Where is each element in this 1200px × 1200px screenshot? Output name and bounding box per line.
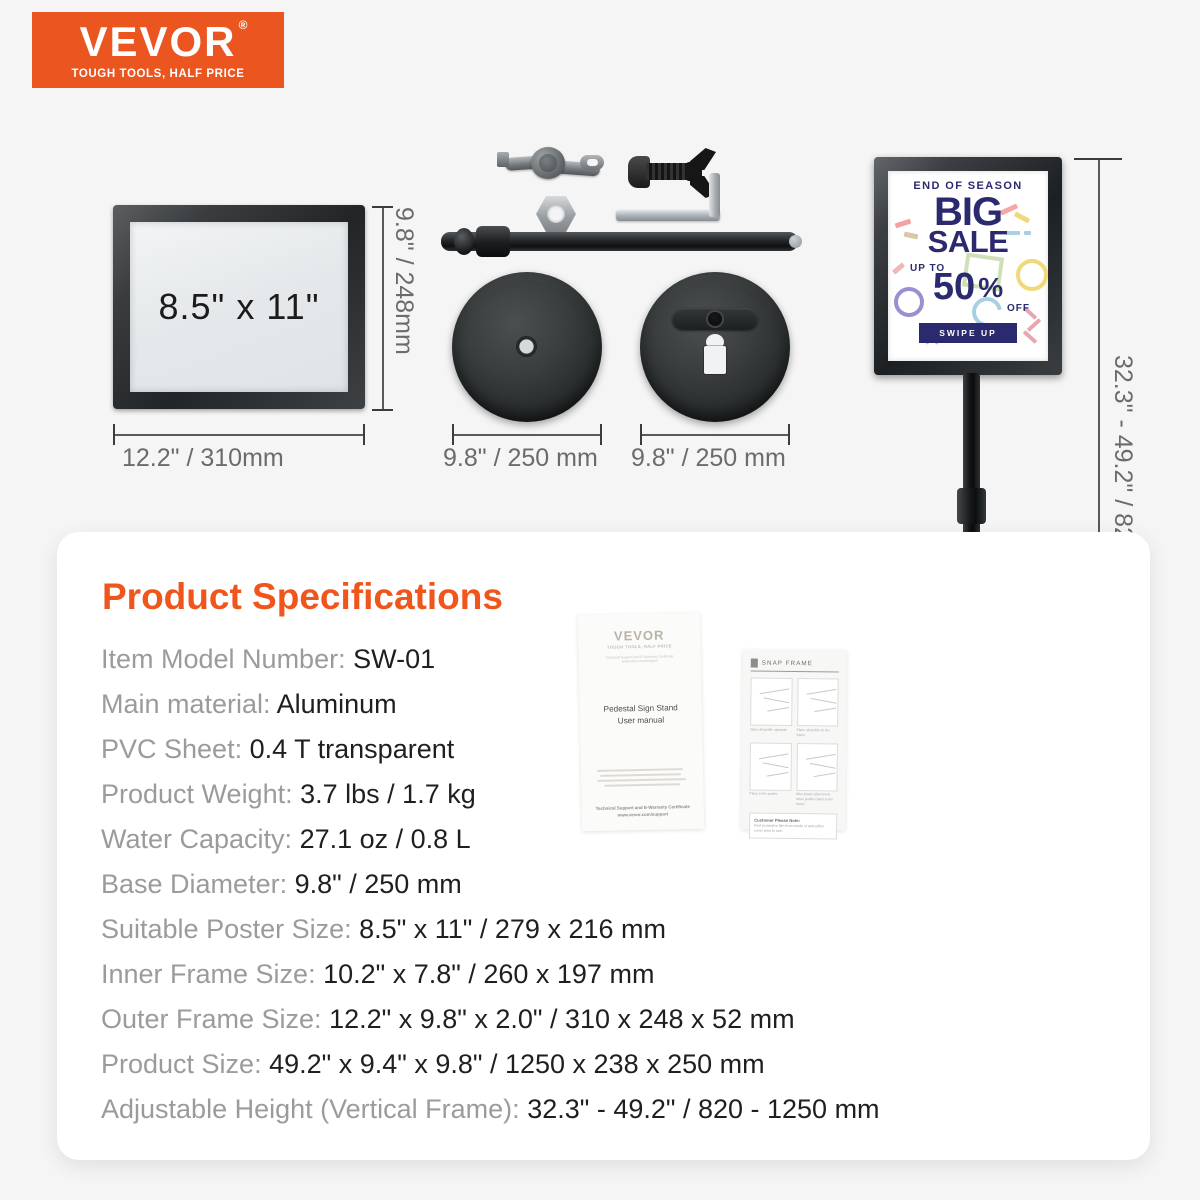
base-mounting-bracket xyxy=(672,308,758,330)
spec-value: 10.2" x 7.8" / 260 x 197 mm xyxy=(323,959,654,989)
spec-label: Base Diameter: xyxy=(101,869,287,899)
snap-card-steps: Open all profile upwardsPlace all profil… xyxy=(749,678,838,808)
spec-row: Outer Frame Size: 12.2" x 9.8" x 2.0" / … xyxy=(101,997,880,1042)
snap-step-diagram xyxy=(750,678,792,726)
spec-value: 12.2" x 9.8" x 2.0" / 310 x 248 x 52 mm xyxy=(329,1004,795,1034)
disc-top-cap-right xyxy=(600,424,602,445)
stand-height-cap-top xyxy=(1074,158,1122,160)
disc-bottom-dimension-line xyxy=(640,434,790,436)
spec-label: Inner Frame Size: xyxy=(101,959,316,989)
spec-label: Item Model Number: xyxy=(101,644,346,674)
snap-step: After poster placement, close profiles b… xyxy=(796,743,838,808)
frame-width-cap-right xyxy=(363,424,365,445)
wrench-eyelet xyxy=(580,155,604,170)
spec-value: 9.8" / 250 mm xyxy=(295,869,462,899)
frame-width-label: 12.2" / 310mm xyxy=(122,444,284,473)
poster-discount-value: 50 xyxy=(933,270,975,304)
disc-top-label: 9.8" / 250 mm xyxy=(443,444,598,473)
snap-step-diagram-line xyxy=(763,762,789,768)
snap-step: Place in the poster xyxy=(749,742,791,807)
snap-step-diagram-line xyxy=(810,698,836,704)
snap-step-diagram xyxy=(749,742,791,790)
snap-step-caption: Open all profile upwards xyxy=(750,727,792,732)
snap-step-diagram-line xyxy=(806,689,836,695)
snap-step-caption: Place in the poster xyxy=(749,792,791,797)
pole-exploded-knob xyxy=(454,228,474,255)
snap-step: Open all profile upwards xyxy=(750,678,792,738)
allen-key-short-arm xyxy=(709,173,720,217)
snap-step-diagram xyxy=(796,743,838,791)
spec-row: Inner Frame Size: 10.2" x 7.8" / 260 x 1… xyxy=(101,952,880,997)
disc-top-dimension-line xyxy=(452,434,602,436)
spec-value: 8.5" x 11" / 279 x 216 mm xyxy=(359,914,666,944)
disc-bottom-cap-left xyxy=(640,424,642,445)
poster-artwork: END OF SEASON BIG SALE UP TO 50 % OFF SW… xyxy=(888,171,1048,361)
logo-wordmark: VEVOR® xyxy=(79,21,236,63)
snap-step-diagram-line xyxy=(805,753,835,759)
spec-row: Base Diameter: 9.8" / 250 mm xyxy=(101,862,880,907)
product-spec-page: VEVOR® TOUGH TOOLS, HALF PRICE 8.5" x 11… xyxy=(0,0,1200,1200)
spec-value: 3.7 lbs / 1.7 kg xyxy=(300,779,476,809)
manual-title-line1: Pedestal Sign Stand xyxy=(590,702,692,716)
snap-step-diagram-line xyxy=(764,697,790,703)
snap-frame-instruction-card: SNAP FRAME Open all profile upwardsPlace… xyxy=(741,649,847,830)
assembled-sign-frame: END OF SEASON BIG SALE UP TO 50 % OFF SW… xyxy=(874,157,1062,375)
wrench-tip xyxy=(497,152,509,167)
spec-value: 32.3" - 49.2" / 820 - 1250 mm xyxy=(527,1094,879,1124)
frame-height-cap-bottom xyxy=(372,409,393,411)
spec-label: Product Weight: xyxy=(101,779,293,809)
snap-step-diagram-line xyxy=(809,762,835,768)
stand-pole-adjust-collar xyxy=(957,488,986,524)
logo-tagline: TOUGH TOOLS, HALF PRICE xyxy=(71,68,244,80)
spec-label: Outer Frame Size: xyxy=(101,1004,322,1034)
poster-off-label: OFF xyxy=(1007,303,1030,314)
pole-exploded-end-cap xyxy=(789,235,802,248)
logo-word-text: VEVOR xyxy=(79,18,236,65)
snap-frame-diagram: 8.5" x 11" xyxy=(113,205,365,409)
manual-text-line xyxy=(604,783,680,787)
spec-row: Suitable Poster Size: 8.5" x 11" / 279 x… xyxy=(101,907,880,952)
manual-text-line xyxy=(597,778,686,782)
spec-value: Aluminum xyxy=(277,689,397,719)
manual-text-line xyxy=(597,768,683,772)
spec-label: PVC Sheet: xyxy=(101,734,242,764)
spec-value: 0.4 T transparent xyxy=(250,734,455,764)
manual-text-line xyxy=(600,773,681,777)
snap-card-note-title: Customer Please Note: xyxy=(754,818,832,824)
disc-bottom-label: 9.8" / 250 mm xyxy=(631,444,786,473)
snap-card-note-body: Peel protective film from inside of anti… xyxy=(754,824,832,835)
manual-title-line2: User manual xyxy=(590,714,692,728)
disc-bottom-cap-right xyxy=(788,424,790,445)
manual-logo: VEVOR xyxy=(588,627,690,644)
spec-label: Water Capacity: xyxy=(101,824,292,854)
frame-inner-size-label: 8.5" x 11" xyxy=(159,286,320,328)
snap-step: Place all profile on the frame xyxy=(797,678,839,738)
snap-step-diagram-line xyxy=(759,753,789,759)
frame-height-label: 9.8" / 248mm xyxy=(389,207,418,355)
user-manual-booklet: VEVOR TOUGH TOOLS, HALF PRICE Technical … xyxy=(578,613,704,832)
snap-step-caption: Place all profile on the frame xyxy=(797,728,839,738)
base-disc-bottom xyxy=(640,272,790,422)
poster-headline-sale: SALE xyxy=(928,229,1009,255)
page-title: Product Specifications xyxy=(102,576,503,618)
base-disc-center-hole xyxy=(516,336,537,357)
disc-top-cap-left xyxy=(452,424,454,445)
snap-card-title: SNAP FRAME xyxy=(762,660,813,668)
manual-footer: Technical Support and E-Warranty Certifi… xyxy=(582,803,704,820)
frame-height-dimension-line xyxy=(382,206,384,410)
spec-value: SW-01 xyxy=(353,644,435,674)
manual-subline: Technical Support and E-Warranty Certifi… xyxy=(589,654,691,664)
snap-step-diagram-line xyxy=(814,708,836,713)
registered-mark-icon: ® xyxy=(239,19,250,31)
hex-nut-part xyxy=(536,196,576,232)
spec-label: Main material: xyxy=(101,689,271,719)
snap-step-diagram-line xyxy=(767,707,789,712)
snap-step-diagram-line xyxy=(767,772,789,777)
vevor-logo: VEVOR® TOUGH TOOLS, HALF PRICE xyxy=(32,12,284,88)
manual-body-text xyxy=(591,768,693,787)
poster-discount-row: 50 % xyxy=(933,270,1003,304)
spec-row: Product Size: 49.2" x 9.4" x 9.8" / 1250… xyxy=(101,1042,880,1087)
base-drain-plug-body xyxy=(704,346,726,374)
allen-key-long-arm xyxy=(616,210,720,221)
snap-step-diagram-line xyxy=(760,688,790,694)
wing-bolt-wing-upper xyxy=(690,148,716,170)
spec-label: Suitable Poster Size: xyxy=(101,914,352,944)
base-disc-top xyxy=(452,272,602,422)
spec-label: Adjustable Height (Vertical Frame): xyxy=(101,1094,520,1124)
poster-percent-sign: % xyxy=(978,271,1003,305)
snap-card-header: SNAP FRAME xyxy=(751,659,839,673)
poster-text-block: END OF SEASON BIG SALE UP TO 50 % OFF SW… xyxy=(888,171,1048,361)
spec-value: 49.2" x 9.4" x 9.8" / 1250 x 238 x 250 m… xyxy=(269,1049,765,1079)
snap-step-diagram xyxy=(797,678,839,726)
manual-tagline: TOUGH TOOLS, HALF PRICE xyxy=(588,643,690,650)
snap-card-header-icon xyxy=(751,659,758,668)
manual-title: Pedestal Sign Stand User manual xyxy=(590,702,692,728)
frame-width-cap-left xyxy=(113,424,115,445)
snap-card-note: Customer Please Note: Peel protective fi… xyxy=(749,813,837,840)
pole-exploded-collar xyxy=(476,226,510,257)
poster-swipe-up-button[interactable]: SWIPE UP xyxy=(919,323,1017,343)
snap-step-caption: After poster placement, close profiles b… xyxy=(796,792,838,807)
spec-value: 27.1 oz / 0.8 L xyxy=(300,824,471,854)
wrench-hub-icon xyxy=(531,147,565,179)
snap-step-diagram-line xyxy=(813,772,835,777)
spec-label: Product Size: xyxy=(101,1049,262,1079)
spec-row: Adjustable Height (Vertical Frame): 32.3… xyxy=(101,1087,880,1132)
frame-inner-panel: 8.5" x 11" xyxy=(130,222,348,392)
frame-width-dimension-line xyxy=(113,434,365,436)
